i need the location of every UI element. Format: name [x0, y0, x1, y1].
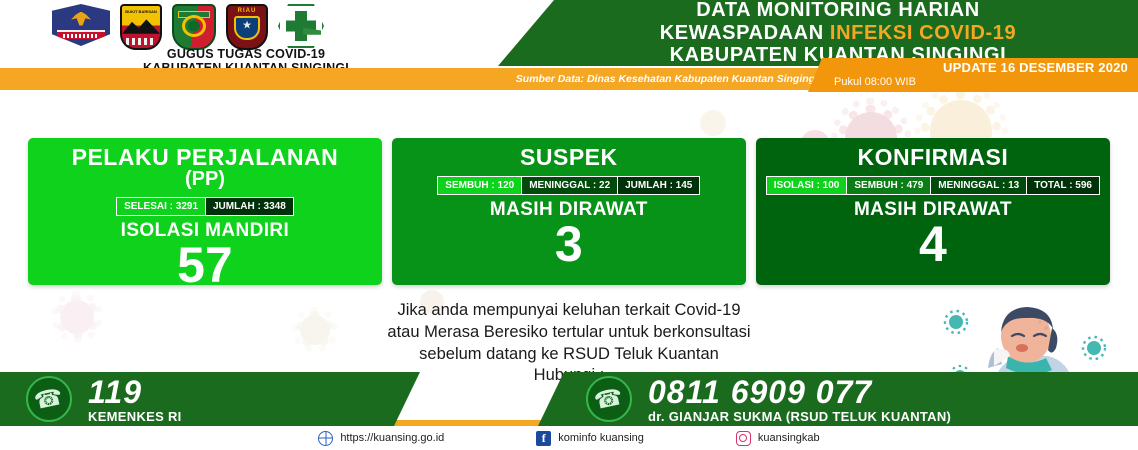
- logo-row: BUKIT BARISAN RIAU ★: [52, 4, 324, 50]
- footer-website-text: https://kuansing.go.id: [340, 432, 444, 444]
- status-badge: TOTAL : 596: [1027, 176, 1100, 195]
- card-title: SUSPEK: [520, 146, 618, 169]
- health-cross-icon: [278, 4, 324, 48]
- social-footer: https://kuansing.go.id f kominfo kuansin…: [0, 426, 1138, 450]
- globe-icon: [318, 431, 333, 446]
- status-badge: MENINGGAL : 22: [522, 176, 618, 195]
- card-konfirmasi: KONFIRMASI ISOLASI : 100 SEMBUH : 479 ME…: [756, 138, 1110, 285]
- footer-facebook-text: kominfo kuansing: [558, 432, 644, 444]
- badge-row: SEMBUH : 120 MENINGGAL : 22 JUMLAH : 145: [402, 176, 736, 195]
- badge-row: SELESAI : 3291 JUMLAH : 3348: [38, 197, 372, 216]
- footer-instagram[interactable]: kuansingkab: [736, 431, 820, 446]
- status-badge: MENINGGAL : 13: [931, 176, 1027, 195]
- kuantan-singingi-emblem-icon: [172, 4, 216, 50]
- card-suspek: SUSPEK SEMBUH : 120 MENINGGAL : 22 JUMLA…: [392, 138, 746, 285]
- dot-blob: [700, 110, 726, 136]
- source-text: Sumber Data: Dinas Kesehatan Kabupaten K…: [516, 73, 818, 85]
- facebook-icon: f: [536, 431, 551, 446]
- hotline-rsud[interactable]: ☎ 0811 6909 077 dr. GIANJAR SUKMA (RSUD …: [538, 372, 1138, 426]
- card-title: PELAKU PERJALANAN: [72, 146, 339, 169]
- update-badge: UPDATE 16 DESEMBER 2020 Pukul 08:00 WIB: [808, 58, 1138, 92]
- statistics-cards: PELAKU PERJALANAN (PP) SELESAI : 3291 JU…: [0, 138, 1138, 285]
- card-subtitle: (PP): [185, 169, 225, 190]
- card-value: 3: [555, 219, 583, 269]
- title-line-2: KEWASPADAAN INFEKSI COVID-19: [660, 22, 1016, 44]
- hotline-kemenkes[interactable]: ☎ 119 KEMENKES RI: [0, 372, 420, 426]
- card-value: 57: [177, 240, 233, 290]
- phone-icon: ☎: [586, 376, 632, 422]
- title-line-1: DATA MONITORING HARIAN: [696, 0, 980, 22]
- card-pelaku-perjalanan: PELAKU PERJALANAN (PP) SELESAI : 3291 JU…: [28, 138, 382, 285]
- hotline-bar: ☎ 119 KEMENKES RI ☎ 0811 6909 077 dr. GI…: [0, 372, 1138, 426]
- hotline-caption: KEMENKES RI: [88, 410, 182, 423]
- update-time: Pukul 08:00 WIB: [834, 76, 1128, 88]
- title-banner: DATA MONITORING HARIAN KEWASPADAAN INFEK…: [498, 0, 1138, 66]
- footer-instagram-text: kuansingkab: [758, 432, 820, 444]
- card-title: KONFIRMASI: [858, 146, 1009, 169]
- footer-website[interactable]: https://kuansing.go.id: [318, 431, 444, 446]
- polda-riau-emblem-icon: RIAU ★: [226, 4, 268, 50]
- status-badge: JUMLAH : 145: [618, 176, 700, 195]
- status-badge: SELESAI : 3291: [116, 197, 206, 216]
- title-line-2-highlight: INFEKSI COVID-19: [830, 22, 1016, 44]
- update-date: UPDATE 16 DESEMBER 2020: [834, 60, 1128, 75]
- garuda-emblem-icon: [52, 4, 110, 46]
- phone-icon: ☎: [26, 376, 72, 422]
- status-badge: SEMBUH : 120: [437, 176, 522, 195]
- hotline-number: 0811 6909 077: [648, 376, 951, 408]
- instagram-icon: [736, 431, 751, 446]
- hotline-number: 119: [88, 376, 182, 408]
- org-line-1: GUGUS TUGAS COVID-19: [96, 47, 396, 61]
- status-badge: JUMLAH : 3348: [206, 197, 294, 216]
- status-badge: SEMBUH : 479: [847, 176, 931, 195]
- title-line-2-plain: KEWASPADAAN: [660, 22, 830, 44]
- bukit-barisan-emblem-icon: BUKIT BARISAN: [120, 4, 162, 50]
- card-value: 4: [919, 219, 947, 269]
- footer-facebook[interactable]: f kominfo kuansing: [536, 431, 644, 446]
- badge-row: ISOLASI : 100 SEMBUH : 479 MENINGGAL : 1…: [766, 176, 1100, 195]
- hotline-caption: dr. GIANJAR SUKMA (RSUD TELUK KUANTAN): [648, 410, 951, 423]
- status-badge: ISOLASI : 100: [766, 176, 848, 195]
